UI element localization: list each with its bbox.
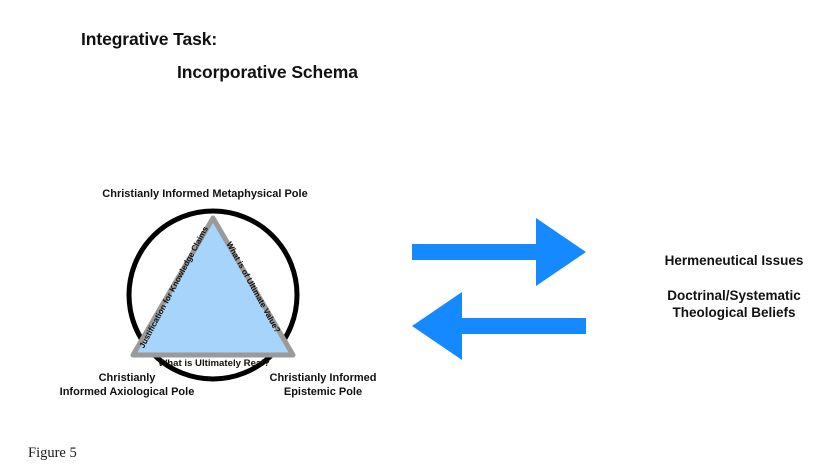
figure-caption: Figure 5 [28, 445, 77, 462]
axiological-pole-line2: Informed Axiological Pole [12, 386, 242, 400]
axiological-pole-label: Christianly Informed Axiological Pole [12, 372, 242, 400]
hermeneutical-issues-label: Hermeneutical Issues [640, 252, 828, 270]
bidirectional-arrows [405, 210, 600, 370]
incorporative-schema-diagram: Christianly Informed Metaphysical Pole J… [20, 180, 390, 410]
arrow-right-icon [412, 218, 586, 286]
related-concepts-text: Hermeneutical Issues Doctrinal/Systemati… [640, 252, 828, 322]
arrows-graphic [405, 210, 600, 370]
text-spacer [640, 270, 828, 287]
page-subtitle: Incorporative Schema [177, 62, 358, 83]
edge-label-bottom: What is Ultimately Real? [158, 358, 270, 369]
arrow-left-icon [412, 292, 586, 360]
epistemic-pole-line1: Christianly Informed [228, 372, 418, 386]
epistemic-pole-line2: Epistemic Pole [228, 386, 418, 400]
theological-beliefs-label: Theological Beliefs [640, 304, 828, 322]
epistemic-pole-label: Christianly Informed Epistemic Pole [228, 372, 418, 400]
page-title: Integrative Task: [81, 29, 217, 50]
doctrinal-systematic-label: Doctrinal/Systematic [640, 287, 828, 305]
axiological-pole-line1: Christianly [12, 372, 242, 386]
figure-slide: Integrative Task: Incorporative Schema C… [0, 0, 836, 473]
